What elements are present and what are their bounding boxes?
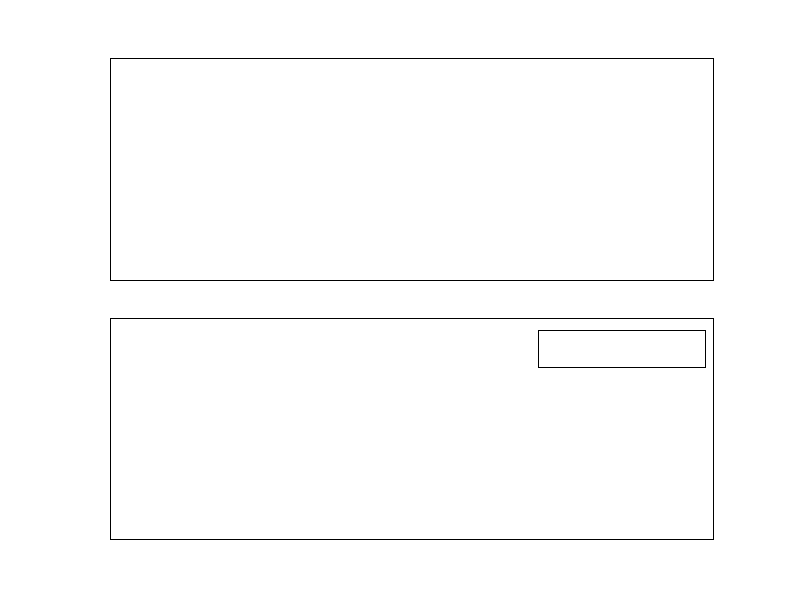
legend bbox=[538, 330, 706, 368]
top-panel-ytick-labels bbox=[36, 58, 104, 281]
top-panel-axes bbox=[110, 58, 714, 281]
top-panel-xtick-labels bbox=[110, 285, 714, 307]
legend-swatch-mag-limit bbox=[549, 348, 593, 350]
figure-canvas bbox=[0, 0, 800, 600]
bottom-panel-ytick-labels bbox=[36, 318, 104, 540]
differential-histogram-plot bbox=[111, 59, 713, 280]
bottom-panel-xtick-labels bbox=[110, 544, 714, 566]
